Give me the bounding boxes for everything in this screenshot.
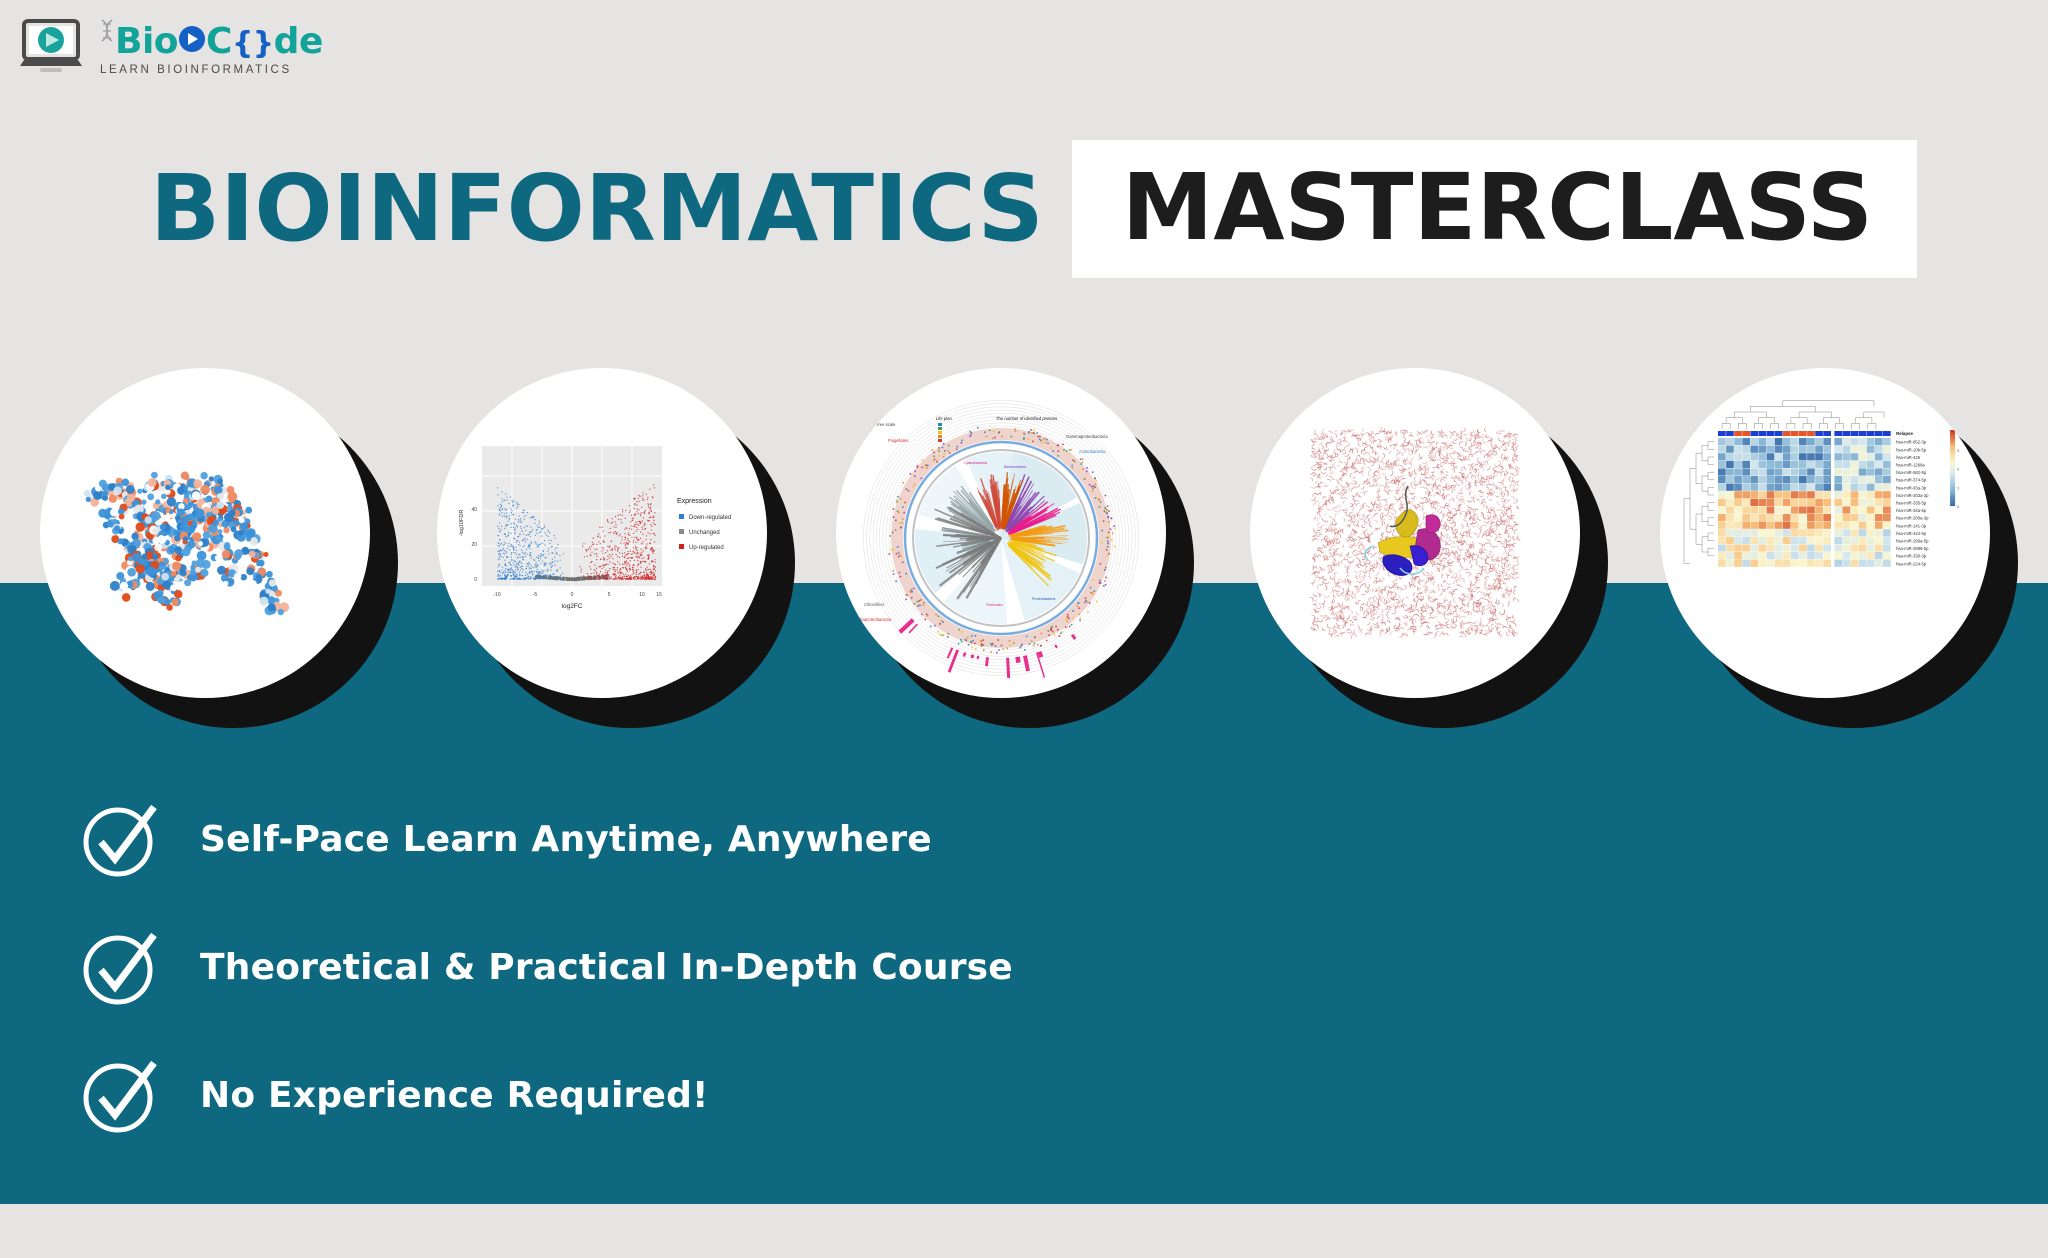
feature-list: Self-Pace Learn Anytime, Anywhere Theore…: [78, 775, 1178, 1159]
feature-item: No Experience Required!: [78, 1031, 1178, 1159]
svg-text:3: 3: [1957, 449, 1959, 453]
svg-text:Firmicutes: Firmicutes: [986, 603, 1003, 607]
svg-text:Actinobacteria: Actinobacteria: [1079, 449, 1106, 454]
volcano-plot-thumbnail: 0 20 40 -log10FDR log2FC -10 -5 0 5 10 1…: [437, 368, 767, 698]
dna-helix-icon: [100, 19, 114, 53]
svg-text:Chloroflexi: Chloroflexi: [864, 602, 884, 607]
poster-canvas: Bio C {} d e LEARN BIOINFORMATICS BIOINF…: [0, 0, 2048, 1258]
md-water-box-figure: [1250, 368, 1580, 698]
svg-text:hsa-miR-10b-5p: hsa-miR-10b-5p: [1896, 447, 1927, 452]
logo-word-c: C: [206, 24, 232, 60]
check-circle-icon: [78, 797, 162, 881]
brand-logo[interactable]: Bio C {} d e LEARN BIOINFORMATICS: [20, 12, 290, 82]
svg-text:-10: -10: [493, 592, 500, 598]
svg-text:10: 10: [639, 592, 645, 598]
feature-label: No Experience Required!: [200, 1075, 709, 1116]
svg-text:hsa-miR-203a-3p: hsa-miR-203a-3p: [1896, 493, 1929, 498]
svg-text:Yes: Yes: [1978, 435, 1984, 439]
gallery-item-expression-heatmap[interactable]: Relapse hsa-miR-652-3phsa-miR-10b-5phsa-…: [1660, 368, 1990, 698]
logo-play-dot-icon: [179, 26, 205, 52]
svg-text:Unchanged: Unchanged: [689, 530, 720, 536]
md-simulation-thumbnail: [1250, 368, 1580, 698]
svg-text:Alphaproteobacteria: Alphaproteobacteria: [854, 617, 892, 622]
svg-text:hsa-miR-296a-5p: hsa-miR-296a-5p: [1896, 539, 1929, 544]
svg-text:hsa-miR-425: hsa-miR-425: [1896, 455, 1921, 460]
svg-text:Up-regulated: Up-regulated: [689, 545, 724, 551]
feature-label: Self-Pace Learn Anytime, Anywhere: [200, 819, 932, 860]
volcano-plot-figure: 0 20 40 -log10FDR log2FC -10 -5 0 5 10 1…: [437, 368, 767, 698]
svg-text:1: 1: [1957, 486, 1959, 490]
heatmap-figure: Relapse hsa-miR-652-3phsa-miR-10b-5phsa-…: [1660, 368, 1990, 698]
svg-text:Expression: Expression: [677, 498, 712, 505]
gallery-item-md-simulation[interactable]: [1250, 368, 1580, 698]
svg-text:hsa-miR-335-5p: hsa-miR-335-5p: [1896, 501, 1927, 506]
heatmap-thumbnail: Relapse hsa-miR-652-3phsa-miR-10b-5phsa-…: [1660, 368, 1990, 698]
svg-text:Cyanobacteria: Cyanobacteria: [964, 461, 987, 465]
feature-item: Self-Pace Learn Anytime, Anywhere: [78, 775, 1178, 903]
logo-word-e: e: [299, 24, 323, 60]
svg-text:hsa-miR-200a-3p: hsa-miR-200a-3p: [1896, 516, 1929, 521]
svg-text:hsa-miR-424-5p: hsa-miR-424-5p: [1896, 531, 1927, 536]
svg-text:15: 15: [656, 592, 662, 598]
svg-text:Gammaproteobacteria: Gammaproteobacteria: [1066, 434, 1108, 439]
svg-text:hsa-miR-1268a: hsa-miR-1268a: [1896, 463, 1925, 468]
svg-text:Relapse: Relapse: [1896, 431, 1913, 436]
svg-text:-5: -5: [533, 592, 538, 598]
svg-text:4: 4: [1957, 430, 1959, 434]
svg-text:No: No: [1978, 443, 1983, 447]
svg-text:5: 5: [608, 592, 611, 598]
check-circle-icon: [78, 1053, 162, 1137]
svg-text:hsa-miR-652-3p: hsa-miR-652-3p: [1896, 440, 1927, 445]
gallery-item-protein-surface[interactable]: [40, 368, 370, 698]
svg-text:0: 0: [474, 577, 477, 583]
laptop-play-icon: [20, 18, 92, 76]
protein-structure-thumbnail: [40, 368, 370, 698]
svg-text:Tree scale: Tree scale: [876, 422, 896, 427]
svg-text:0: 0: [571, 592, 574, 598]
svg-text:hsa-miR-141-3p: hsa-miR-141-3p: [1896, 523, 1927, 528]
circular-tree-figure: Tree scale Life plan The number of ident…: [836, 368, 1166, 698]
logo-tagline: LEARN BIOINFORMATICS: [100, 64, 323, 76]
svg-text:Life plan: Life plan: [936, 416, 953, 421]
bottom-strip: [0, 1204, 2048, 1258]
svg-text:Flagellates: Flagellates: [888, 438, 908, 443]
thumbnail-gallery: 0 20 40 -log10FDR log2FC -10 -5 0 5 10 1…: [0, 368, 2048, 728]
logo-word-bio: Bio: [115, 24, 178, 60]
gallery-item-circular-phylogeny[interactable]: Tree scale Life plan The number of ident…: [836, 368, 1166, 698]
svg-text:log2FC: log2FC: [562, 603, 583, 610]
svg-text:hsa-miR-330-3p: hsa-miR-330-3p: [1896, 554, 1927, 559]
headline-primary: BIOINFORMATICS: [150, 161, 1044, 257]
svg-text:hsa-miR-2986-5p: hsa-miR-2986-5p: [1896, 546, 1929, 551]
brand-wordmark: Bio C {} d e LEARN BIOINFORMATICS: [100, 19, 323, 76]
logo-braces-icon: {}: [232, 26, 274, 62]
gallery-item-volcano-plot[interactable]: 0 20 40 -log10FDR log2FC -10 -5 0 5 10 1…: [437, 368, 767, 698]
svg-text:0: 0: [1957, 505, 1959, 509]
svg-text:Proteobacteria: Proteobacteria: [1032, 597, 1055, 601]
svg-text:2: 2: [1957, 468, 1959, 472]
svg-text:hsa-miR-374-5p: hsa-miR-374-5p: [1896, 478, 1927, 483]
svg-text:The number of identified prote: The number of identified proteins: [996, 416, 1057, 421]
svg-text:Down-regulated: Down-regulated: [689, 515, 731, 521]
svg-text:-log10FDR: -log10FDR: [459, 510, 465, 537]
svg-text:hsa-miR-224-5p: hsa-miR-224-5p: [1896, 561, 1927, 566]
svg-text:20: 20: [471, 542, 477, 548]
circos-plot-thumbnail: Tree scale Life plan The number of ident…: [836, 368, 1166, 698]
headline-row: BIOINFORMATICS MASTERCLASS: [0, 140, 2048, 278]
svg-text:hsa-miR-93a-3p: hsa-miR-93a-3p: [1896, 485, 1927, 490]
svg-text:hsa-miR-34a-5p: hsa-miR-34a-5p: [1896, 508, 1927, 513]
logo-word-d: d: [274, 24, 299, 60]
feature-item: Theoretical & Practical In-Depth Course: [78, 903, 1178, 1031]
protein-surface-figure: [40, 368, 370, 698]
check-circle-icon: [78, 925, 162, 1009]
svg-text:40: 40: [471, 507, 477, 513]
headline-badge: MASTERCLASS: [1072, 140, 1917, 278]
feature-label: Theoretical & Practical In-Depth Course: [200, 947, 1013, 988]
svg-text:Bacteroidetes: Bacteroidetes: [1004, 465, 1026, 469]
svg-text:hsa-miR-582-5p: hsa-miR-582-5p: [1896, 470, 1927, 475]
svg-text:Relapse: Relapse: [1970, 426, 1987, 431]
brand-wordmark-line: Bio C {} d e: [100, 19, 323, 62]
